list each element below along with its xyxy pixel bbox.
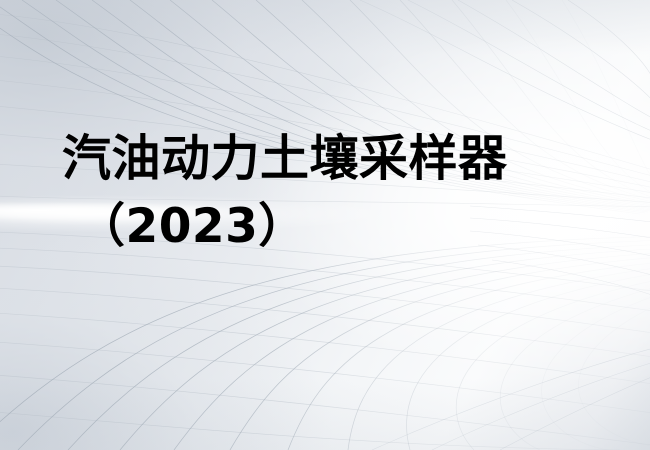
mesh-weft-lines-bottom [0, 232, 650, 450]
mesh-warp-lines-bottom [0, 236, 650, 450]
title-block: 汽油动力土壤采样器 （2023） [0, 128, 650, 258]
page-title: 汽油动力土壤采样器 [0, 128, 650, 190]
title-slide: 汽油动力土壤采样器 （2023） [0, 0, 650, 450]
page-title-year: （2023） [0, 190, 650, 258]
